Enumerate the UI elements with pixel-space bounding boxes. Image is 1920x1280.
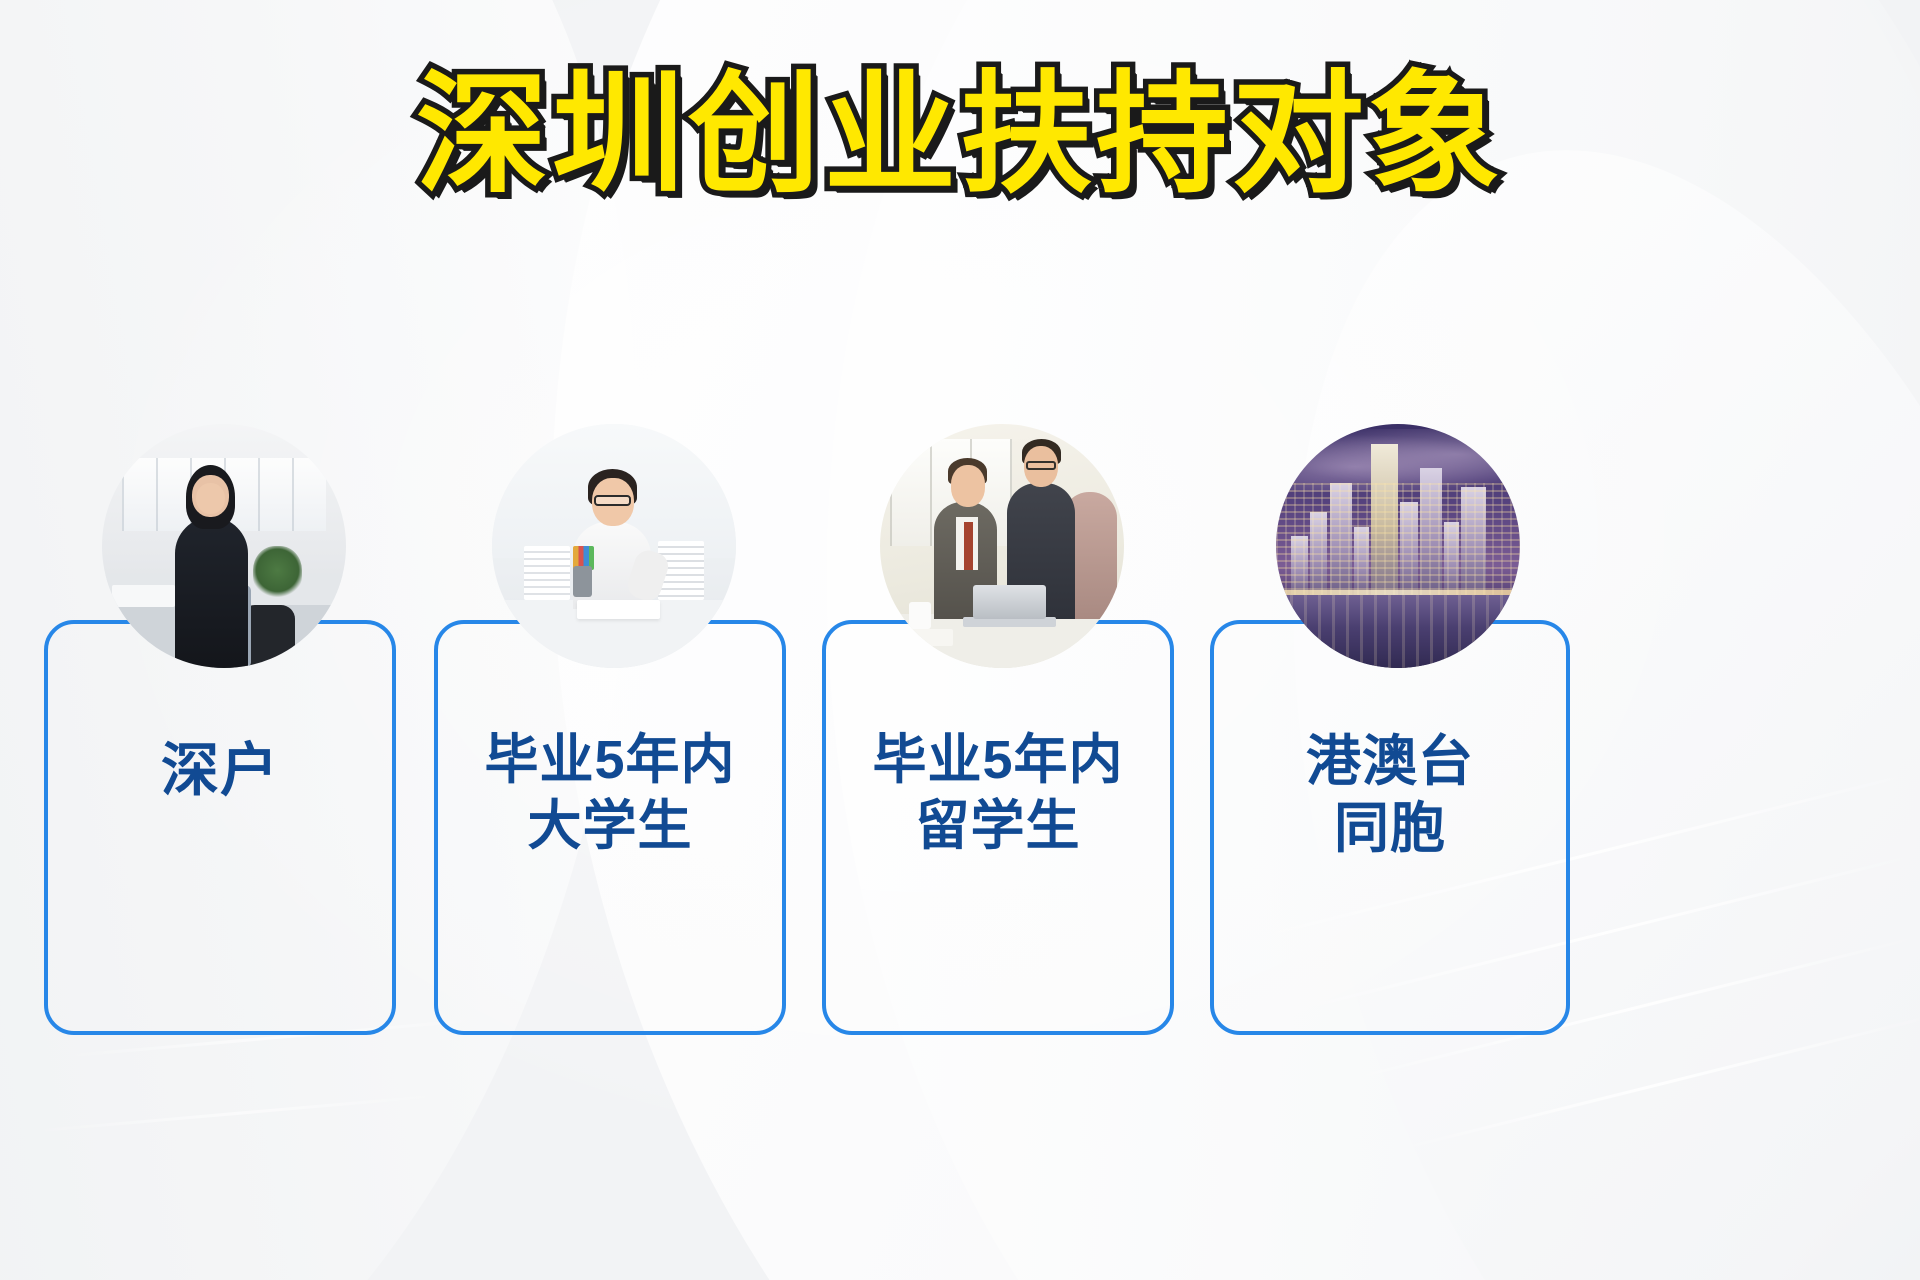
card-label: 毕业5年内 留学生 <box>826 728 1170 860</box>
poster-root: 深圳创业扶持对象 深户 <box>0 0 1920 1280</box>
card-shenzhen-hukou[interactable]: 深户 <box>44 620 396 1035</box>
business-meeting-photo <box>880 424 1124 668</box>
hong-kong-skyline-photo <box>1276 424 1520 668</box>
card-label: 深户 <box>48 736 392 807</box>
card-label: 毕业5年内 大学生 <box>438 728 782 860</box>
page-title: 深圳创业扶持对象 <box>416 66 1504 205</box>
background-streak <box>1390 1015 1920 1153</box>
background-streak <box>30 1093 449 1133</box>
cards-row: 深户 毕业5年内 大学生 <box>44 510 1876 930</box>
businesswoman-office-photo <box>102 424 346 668</box>
student-studying-photo <box>492 424 736 668</box>
card-overseas-returnee-within-5-years[interactable]: 毕业5年内 留学生 <box>822 620 1174 1035</box>
card-graduate-within-5-years[interactable]: 毕业5年内 大学生 <box>434 620 786 1035</box>
card-hk-macao-taiwan-compatriots[interactable]: 港澳台 同胞 <box>1210 620 1570 1035</box>
title-container: 深圳创业扶持对象 <box>0 66 1920 205</box>
card-label: 港澳台 同胞 <box>1214 728 1566 862</box>
